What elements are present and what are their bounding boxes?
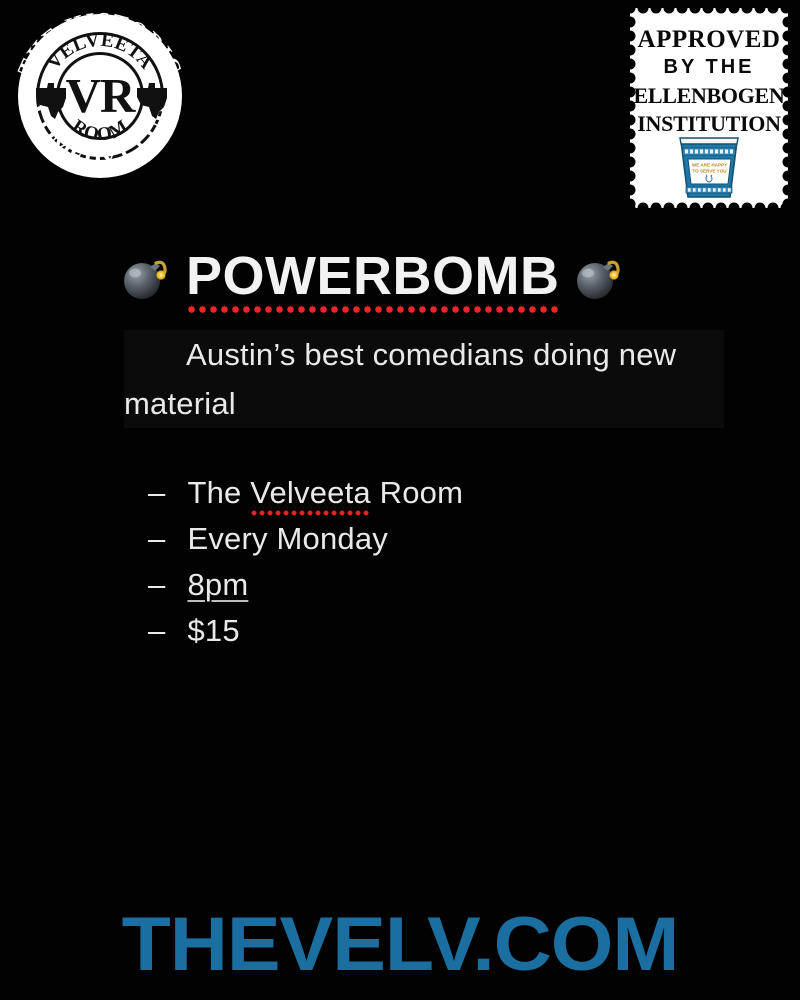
logo-lettering: THE HISTORIC COMEDY CLUB VELVEETA ROOM V… [10, 8, 190, 223]
list-dash: – [148, 516, 165, 562]
subtitle-text: Austin’s best comedians doing new materi… [124, 330, 724, 428]
list-item-venue: The Velveeta Room [187, 470, 463, 516]
comedy-show-poster: THE HISTORIC COMEDY CLUB VELVEETA ROOM V… [0, 0, 800, 1000]
list-item-schedule: Every Monday [187, 516, 388, 562]
stamp-line-ellenbogen: ELLENBOGEN [630, 83, 788, 109]
list-item: – The Velveeta Room [148, 470, 668, 516]
headline-title: POWERBOMB [186, 249, 559, 303]
greek-coffee-cup-icon: WE ARE HAPPY TO SERVE YOU [669, 135, 749, 201]
list-dash: – [148, 470, 165, 516]
list-item: – Every Monday [148, 516, 668, 562]
bomb-emoji-right [573, 250, 625, 302]
headline-title-text: POWERBOMB [186, 246, 559, 315]
velveeta-room-logo: THE HISTORIC COMEDY CLUB VELVEETA ROOM V… [10, 8, 190, 223]
cup-text-line-2: TO SERVE YOU [692, 169, 727, 174]
list-dash: – [148, 608, 165, 654]
bomb-emoji-left [120, 250, 172, 302]
logo-monogram-text: VR [66, 68, 136, 123]
list-dash: – [148, 562, 165, 608]
show-details-list: – The Velveeta Room – Every Monday – 8pm… [148, 470, 668, 654]
stamp-line-institution: INSTITUTION [630, 111, 788, 137]
misspelled-word-velveeta: Velveeta [250, 475, 371, 517]
headline-row: POWERBOMB [120, 240, 640, 312]
approval-stamp: APPROVED BY THE ELLENBOGEN INSTITUTION W… [630, 8, 788, 208]
list-item-price: $15 [187, 608, 239, 654]
stamp-line-by-the: BY THE [630, 56, 788, 79]
footer-website-url[interactable]: THEVELV.COM [0, 905, 800, 985]
list-item: – $15 [148, 608, 668, 654]
list-item: – 8pm [148, 562, 668, 608]
stamp-line-approved: APPROVED [630, 26, 788, 54]
list-item-time: 8pm [187, 562, 248, 608]
cup-text-line-1: WE ARE HAPPY [692, 163, 727, 168]
